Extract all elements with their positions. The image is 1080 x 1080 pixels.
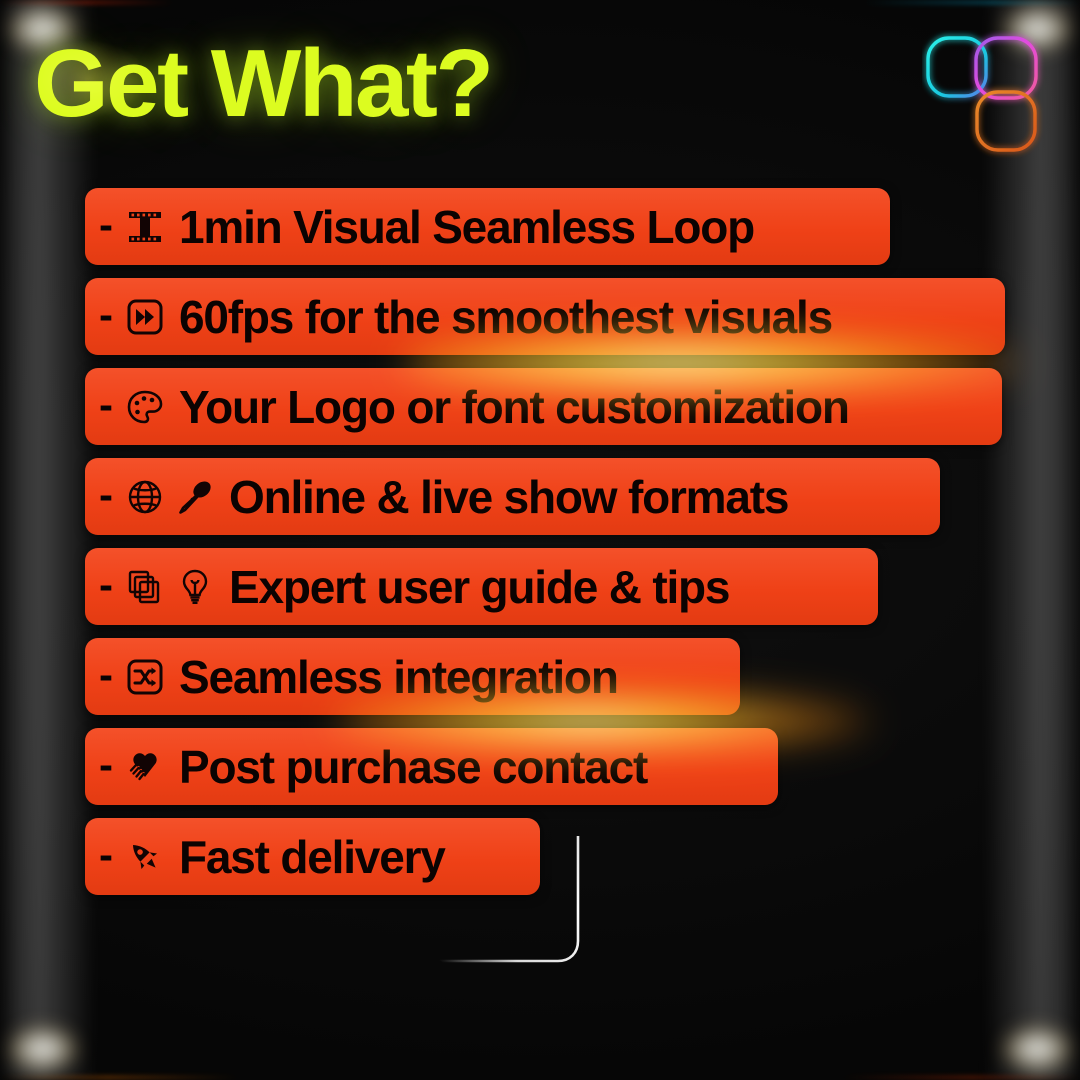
list-item[interactable]: - Post purchase contact — [85, 728, 778, 805]
list-item[interactable]: - Online & live show formats — [85, 458, 940, 535]
list-item-label: Your Logo or font customization — [179, 384, 869, 430]
fast-forward-icon — [125, 297, 165, 337]
list-item-label: Online & live show formats — [229, 474, 808, 520]
list-item-label: 60fps for the smoothest visuals — [179, 294, 852, 340]
ring-bottom-right — [977, 92, 1035, 150]
list-item-label: Post purchase contact — [179, 744, 667, 790]
film-strip-icon — [125, 207, 165, 247]
shuffle-icon — [125, 657, 165, 697]
bullet-dash: - — [99, 564, 113, 606]
poster-canvas: Get What? — [0, 0, 1080, 1080]
list-item-label: Expert user guide & tips — [229, 564, 749, 610]
microphone-icon — [175, 477, 215, 517]
rocket-icon — [125, 837, 165, 877]
lightbulb-icon — [175, 567, 215, 607]
bullet-dash: - — [99, 744, 113, 786]
list-item[interactable]: - Expert user guide & tips — [85, 548, 878, 625]
list-item-label: Fast delivery — [179, 834, 465, 880]
list-item[interactable]: - Fast delivery — [85, 818, 540, 895]
list-item[interactable]: - Seamless integration — [85, 638, 740, 715]
three-rings-logo — [922, 30, 1052, 160]
bullet-dash: - — [99, 294, 113, 336]
globe-icon — [125, 477, 165, 517]
list-item-label: Seamless integration — [179, 654, 638, 700]
list-item[interactable]: - 60fps for the smoothest visuals — [85, 278, 1005, 355]
handshake-icon — [125, 747, 165, 787]
bullet-dash: - — [99, 654, 113, 696]
list-item[interactable]: - Your Logo or font customization — [85, 368, 1002, 445]
bullet-dash: - — [99, 474, 113, 516]
books-icon — [125, 567, 165, 607]
palette-icon — [125, 387, 165, 427]
list-item-label: 1min Visual Seamless Loop — [179, 204, 774, 250]
features-list: - 1min Visual Seaml — [85, 188, 1045, 908]
page-title: Get What? — [34, 36, 491, 132]
list-item[interactable]: - 1min Visual Seaml — [85, 188, 890, 265]
bullet-dash: - — [99, 384, 113, 426]
bullet-dash: - — [99, 204, 113, 246]
bullet-dash: - — [99, 834, 113, 876]
